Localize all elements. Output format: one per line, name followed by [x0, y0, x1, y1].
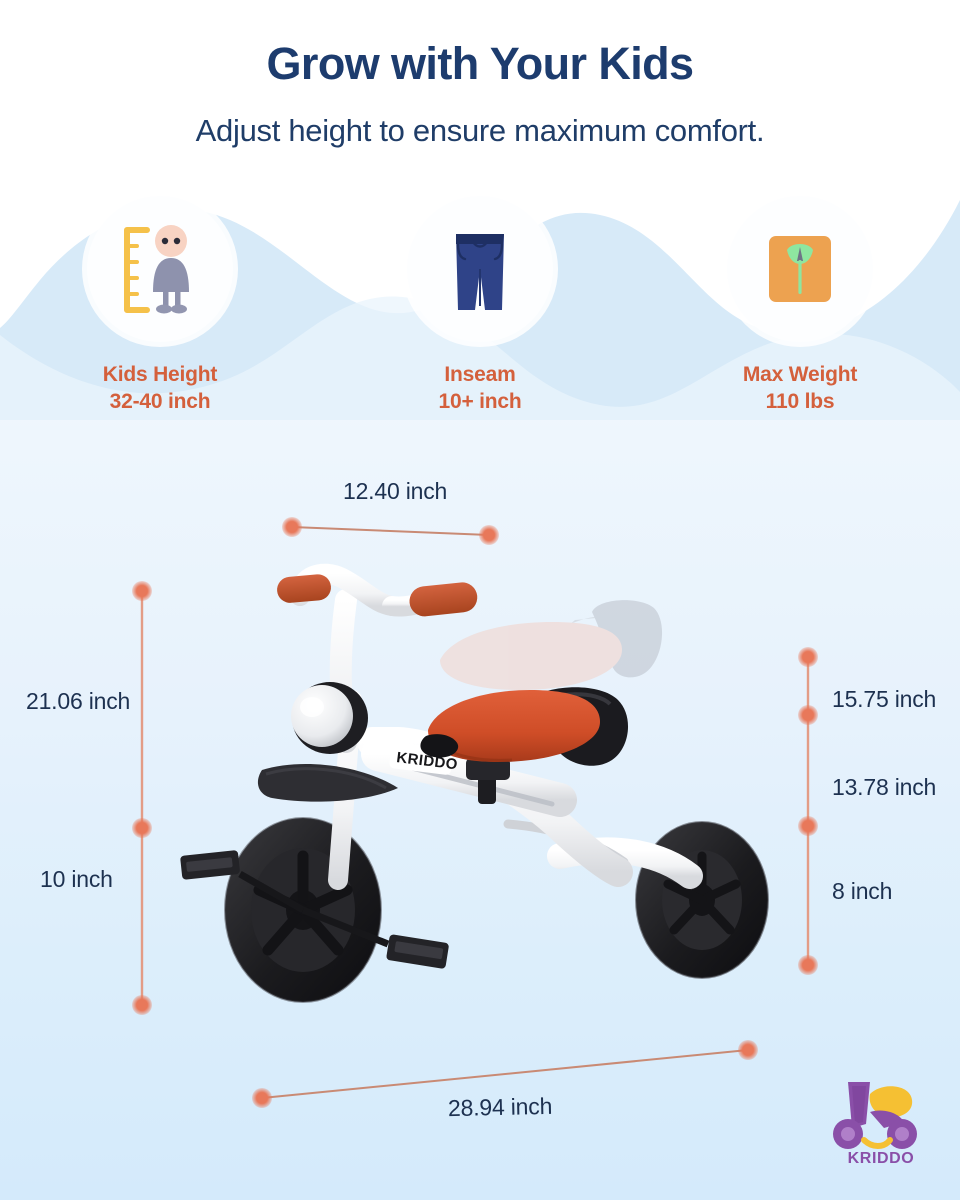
- page-subtitle: Adjust height to ensure maximum comfort.: [0, 113, 960, 149]
- frame-brand-plate: KRIDDO: [389, 742, 459, 775]
- dimension-rail-left: [132, 581, 152, 1015]
- feature-value: 110 lbs: [743, 389, 857, 416]
- feature-max-weight: Max Weight 110 lbs: [640, 196, 960, 416]
- feature-inseam: Inseam 10+ inch: [320, 196, 640, 416]
- dimension-rail-top: [282, 517, 499, 545]
- dimension-label-bottom: 28.94 inch: [448, 1093, 553, 1122]
- rear-wheel: [636, 822, 768, 978]
- infographic-page: Grow with Your Kids Adjust height to ens…: [0, 0, 960, 1200]
- feature-value: 32-40 inch: [103, 389, 217, 416]
- feature-caption-inseam: Inseam 10+ inch: [438, 362, 521, 416]
- handlebar-bell: [291, 682, 368, 754]
- header: Grow with Your Kids Adjust height to ens…: [0, 0, 960, 172]
- child-height-ruler-icon: [105, 214, 215, 324]
- page-title: Grow with Your Kids: [0, 38, 960, 90]
- pedal-set: [180, 850, 449, 969]
- feature-label: Kids Height: [103, 362, 217, 389]
- dimension-label-left-upper: 21.06 inch: [26, 688, 130, 715]
- feature-caption-kids-height: Kids Height 32-40 inch: [103, 362, 217, 416]
- pants-inseam-icon: [425, 214, 535, 324]
- brand-logo: KRIDDO: [826, 1078, 936, 1170]
- svg-text:KRIDDO: KRIDDO: [396, 749, 459, 773]
- kriddo-trike-mark-icon: [826, 1078, 936, 1152]
- feature-label: Inseam: [438, 362, 521, 389]
- dimension-rail-right: [798, 647, 818, 975]
- feature-badge-inseam: [407, 196, 553, 342]
- feature-badge-max-weight: [727, 196, 873, 342]
- feature-value: 10+ inch: [438, 389, 521, 416]
- saddle: [420, 678, 628, 766]
- dimension-label-left-lower: 10 inch: [40, 866, 113, 893]
- front-wheel: [225, 818, 381, 1002]
- feature-caption-max-weight: Max Weight 110 lbs: [743, 362, 857, 416]
- dimension-label-right-lower: 8 inch: [832, 878, 892, 905]
- tricycle-illustration: KRIDDO: [180, 573, 768, 1002]
- handlebar-grips: [276, 573, 479, 618]
- feature-specs-row: Kids Height 32-40 inch Inseam 10+ inch: [0, 196, 960, 416]
- feature-kids-height: Kids Height 32-40 inch: [0, 196, 320, 416]
- ghost-seat-position: [440, 600, 662, 690]
- dimension-label-top: 12.40 inch: [343, 478, 447, 505]
- feature-label: Max Weight: [743, 362, 857, 389]
- weight-scale-icon: [745, 214, 855, 324]
- feature-badge-kids-height: [87, 196, 233, 342]
- brand-wordmark: KRIDDO: [826, 1150, 936, 1168]
- dimension-label-right-middle: 13.78 inch: [832, 774, 936, 801]
- dimension-label-right-upper: 15.75 inch: [832, 686, 936, 713]
